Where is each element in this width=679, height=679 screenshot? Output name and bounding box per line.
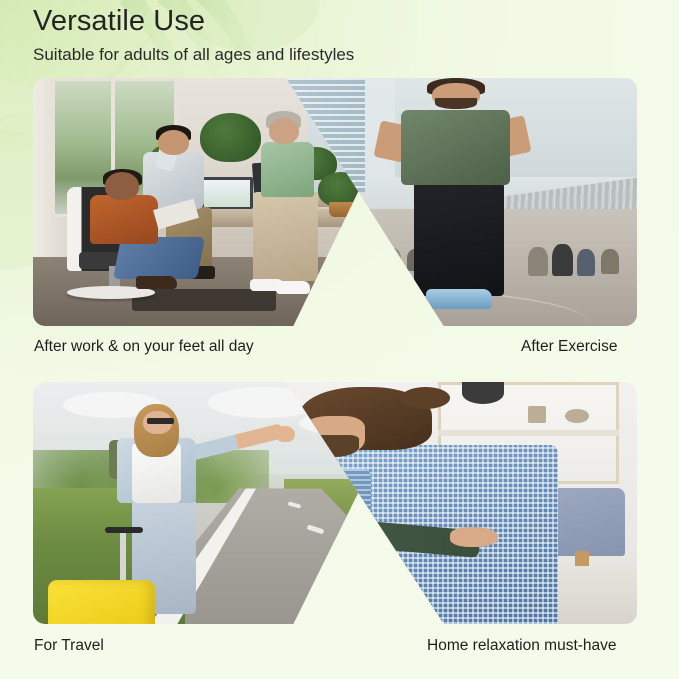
caption-after-exercise: After Exercise	[521, 337, 617, 357]
caption-for-travel: For Travel	[34, 636, 104, 656]
page-title: Versatile Use	[33, 4, 643, 38]
header-block: Versatile Use Suitable for adults of all…	[33, 4, 643, 66]
page-subtitle: Suitable for adults of all ages and life…	[33, 44, 643, 66]
caption-after-work: After work & on your feet all day	[34, 337, 254, 357]
caption-home-relaxation: Home relaxation must-have	[427, 636, 617, 656]
infographic-page: Versatile Use Suitable for adults of all…	[0, 0, 679, 679]
photo-row-top	[33, 78, 637, 326]
photo-row-bottom	[33, 382, 637, 624]
